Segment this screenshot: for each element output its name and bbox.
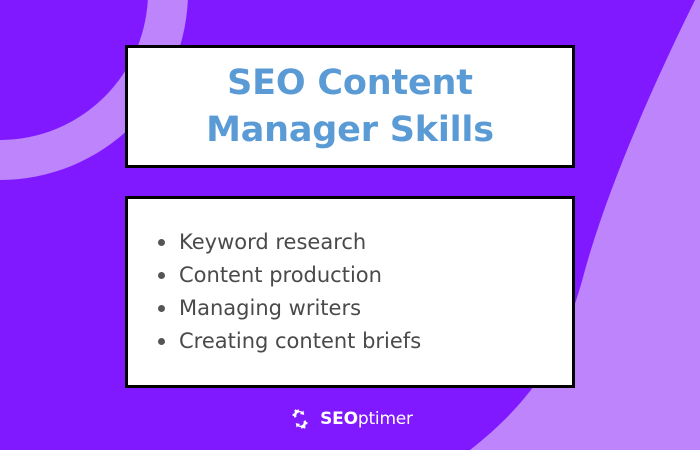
bullet-icon bbox=[158, 338, 165, 345]
list-item: Keyword research bbox=[158, 226, 572, 259]
skills-card: Keyword research Content production Mana… bbox=[125, 196, 575, 388]
list-item: Managing writers bbox=[158, 292, 572, 325]
list-item-label: Managing writers bbox=[179, 296, 361, 320]
title-card: SEO Content Manager Skills bbox=[125, 45, 575, 168]
bullet-icon bbox=[158, 272, 165, 279]
list-item-label: Keyword research bbox=[179, 230, 366, 254]
list-item-label: Creating content briefs bbox=[179, 329, 421, 353]
seoptimer-gear-arrows-icon bbox=[287, 406, 313, 432]
list-item: Creating content briefs bbox=[158, 325, 572, 358]
infographic-canvas: SEO Content Manager Skills Keyword resea… bbox=[0, 0, 700, 450]
bullet-icon bbox=[158, 305, 165, 312]
brand-logo: SEOptimer bbox=[0, 404, 700, 434]
brand-name-bold: SEO bbox=[320, 409, 358, 429]
skills-list: Keyword research Content production Mana… bbox=[128, 226, 572, 358]
brand-name: SEOptimer bbox=[320, 409, 413, 429]
bullet-icon bbox=[158, 239, 165, 246]
page-title: SEO Content Manager Skills bbox=[194, 60, 506, 152]
list-item: Content production bbox=[158, 259, 572, 292]
brand-name-light: ptimer bbox=[358, 409, 413, 429]
list-item-label: Content production bbox=[179, 263, 382, 287]
